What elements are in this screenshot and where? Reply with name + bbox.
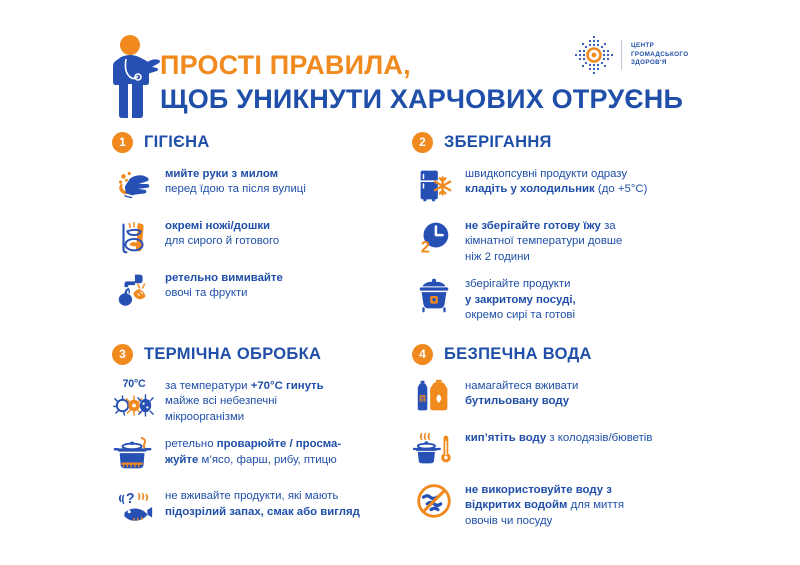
- item-text: швидкопсувні продукти одразу кладіть у х…: [465, 166, 647, 198]
- item-text: зберігайте продукти у закритому посуді, …: [465, 276, 576, 323]
- item-line-2: кімнатної температури довше: [465, 235, 622, 247]
- section-storage: 2 ЗБЕРІГАННЯ: [412, 128, 712, 334]
- microbes-temperature-icon: 70°C: [112, 378, 156, 424]
- washing-vegetables-tap-icon: [112, 267, 156, 311]
- section-header: 3 ТЕРМІЧНА ОБРОБКА: [112, 340, 412, 368]
- item-text: окремі ножі/дошки для сирого й готового: [165, 218, 279, 250]
- section-header: 2 ЗБЕРІГАННЯ: [412, 128, 712, 156]
- item-line-1-tail: за: [601, 220, 616, 232]
- item-line-2: перед їдою та після вулиці: [165, 183, 306, 195]
- list-item: 2 не зберігайте готову їжу за кімнатної …: [412, 218, 712, 265]
- item-line-2-bold: відкритих водойм: [465, 499, 567, 511]
- item-text: ретельно вимивайте овочі та фрукти: [165, 270, 283, 302]
- section-header: 1 ГІГІЄНА: [112, 128, 412, 156]
- item-line-1: ретельно вимивайте: [165, 272, 283, 284]
- cooking-pot-steam-icon: [112, 433, 156, 477]
- item-line-2: м’ясо, фарш, рибу, птицю: [198, 454, 336, 466]
- section-heat-treatment: 3 ТЕРМІЧНА ОБРОБКА 70°C: [112, 340, 412, 540]
- logo-text-line-3: ЗДОРОВ'Я: [631, 59, 689, 68]
- section-title: ЗБЕРІГАННЯ: [444, 133, 552, 152]
- list-item: намагайтеся вживати бутильовану воду: [412, 378, 712, 419]
- section-header: 4 БЕЗПЕЧНА ВОДА: [412, 340, 712, 368]
- clock-two-hours-icon: 2: [412, 215, 456, 259]
- item-line-1: не використовуйте воду з: [465, 484, 612, 496]
- item-line-1-tail: з колодязів/бюветів: [546, 432, 652, 444]
- section-number-badge: 3: [112, 344, 133, 365]
- list-item: не використовуйте воду з відкритих водой…: [412, 482, 712, 529]
- list-item: ретельно вимивайте овочі та фрукти: [112, 270, 412, 311]
- item-line-3: мікроорганізми: [165, 411, 244, 423]
- section-number-badge: 1: [112, 132, 133, 153]
- item-text: не вживайте продукти, які мають підозріл…: [165, 488, 360, 520]
- item-line-1: не вживайте продукти, які мають: [165, 490, 338, 502]
- item-line-2: кладіть у холодильник: [465, 183, 595, 195]
- logo-text-line-2: ГРОМАДСЬКОГО: [631, 51, 689, 60]
- logo-text-line-1: ЦЕНТР: [631, 42, 689, 51]
- section-safe-water: 4 БЕЗПЕЧНА ВОДА: [412, 340, 712, 540]
- item-line-2: овочі та фрукти: [165, 287, 248, 299]
- section-title: ГІГІЄНА: [144, 133, 210, 152]
- no-open-water-icon: [412, 479, 456, 523]
- item-line-1-bold: проварюйте / просма-: [217, 438, 341, 450]
- item-line-3: ніж 2 години: [465, 251, 530, 263]
- section-number-badge: 2: [412, 132, 433, 153]
- item-line-1: намагайтеся вживати: [465, 380, 578, 392]
- item-line-2: для сирого й готового: [165, 235, 279, 247]
- washing-hands-icon: [112, 163, 156, 207]
- covered-pot-icon: [412, 273, 456, 317]
- section-number-badge: 4: [412, 344, 433, 365]
- item-text: за температури +70°C гинуть майже всі не…: [165, 378, 324, 425]
- sunburst-logo-icon: [572, 33, 616, 77]
- item-line-1: швидкопсувні продукти одразу: [465, 168, 627, 180]
- item-text: кип’ятіть воду з колодязів/бюветів: [465, 430, 652, 446]
- item-line-2-tail: (до +5°C): [595, 183, 648, 195]
- infographic-page: ПРОСТІ ПРАВИЛА, ЩОБ УНИКНУТИ ХАРЧОВИХ ОТ…: [0, 0, 800, 565]
- bottled-water-icon: [412, 375, 456, 419]
- section-hygiene: 1 ГІГІЄНА: [112, 128, 412, 322]
- item-line-2-bold: жуйте: [165, 454, 198, 466]
- svg-text:?: ?: [126, 491, 135, 507]
- refrigerator-snowflake-icon: [412, 163, 456, 207]
- item-line-2: підозрілий запах, смак або вигляд: [165, 506, 360, 518]
- cutting-board-knife-icon: [112, 215, 156, 259]
- section-title: БЕЗПЕЧНА ВОДА: [444, 345, 592, 364]
- item-line-2-tail: для миття: [567, 499, 624, 511]
- list-item: мийте руки з милом перед їдою та після в…: [112, 166, 412, 207]
- item-text: не зберігайте готову їжу за кімнатної те…: [465, 218, 622, 265]
- item-line-1: окремі ножі/дошки: [165, 220, 270, 232]
- item-line-1: не зберігайте готову їжу: [465, 220, 601, 232]
- item-text: не використовуйте воду з відкритих водой…: [465, 482, 624, 529]
- list-item: швидкопсувні продукти одразу кладіть у х…: [412, 166, 712, 207]
- item-line-1-bold: +70°C гинуть: [251, 380, 324, 392]
- section-title: ТЕРМІЧНА ОБРОБКА: [144, 345, 321, 364]
- boiling-pot-thermometer-icon: [412, 427, 456, 471]
- item-line-2: майже всі небезпечні: [165, 395, 277, 407]
- logo-text: ЦЕНТР ГРОМАДСЬКОГО ЗДОРОВ'Я: [631, 42, 689, 68]
- suspicious-fish-icon: ?: [112, 485, 156, 529]
- organization-logo: ЦЕНТР ГРОМАДСЬКОГО ЗДОРОВ'Я: [572, 33, 732, 77]
- list-item: зберігайте продукти у закритому посуді, …: [412, 276, 712, 323]
- item-text: мийте руки з милом перед їдою та після в…: [165, 166, 306, 198]
- item-line-3: овочів чи посуду: [465, 515, 552, 527]
- item-line-3: окремо сирі та готові: [465, 309, 575, 321]
- list-item: кип’ятіть воду з колодязів/бюветів: [412, 430, 712, 471]
- item-line-1: зберігайте продукти: [465, 278, 571, 290]
- logo-divider: [621, 40, 622, 70]
- doctor-figure-icon: [108, 34, 162, 122]
- list-item: ?: [112, 488, 412, 529]
- svg-text:2: 2: [421, 238, 430, 256]
- item-text: намагайтеся вживати бутильовану воду: [465, 378, 578, 410]
- list-item: окремі ножі/дошки для сирого й готового: [112, 218, 412, 259]
- header: ПРОСТІ ПРАВИЛА, ЩОБ УНИКНУТИ ХАРЧОВИХ ОТ…: [0, 0, 800, 125]
- item-line-2: у закритому посуді,: [465, 294, 576, 306]
- item-line-1: ретельно: [165, 438, 217, 450]
- list-item: 70°C: [112, 378, 412, 425]
- title-line-2: ЩОБ УНИКНУТИ ХАРЧОВИХ ОТРУЄНЬ: [160, 84, 700, 115]
- item-text: ретельно проварюйте / просма- жуйте м’яс…: [165, 436, 341, 468]
- item-line-1: мийте руки з милом: [165, 168, 278, 180]
- item-line-2: бутильовану воду: [465, 395, 569, 407]
- item-line-1: кип’ятіть воду: [465, 432, 546, 444]
- list-item: ретельно проварюйте / просма- жуйте м’яс…: [112, 436, 412, 477]
- item-line-1: за температури: [165, 380, 251, 392]
- temperature-label: 70°C: [112, 378, 156, 390]
